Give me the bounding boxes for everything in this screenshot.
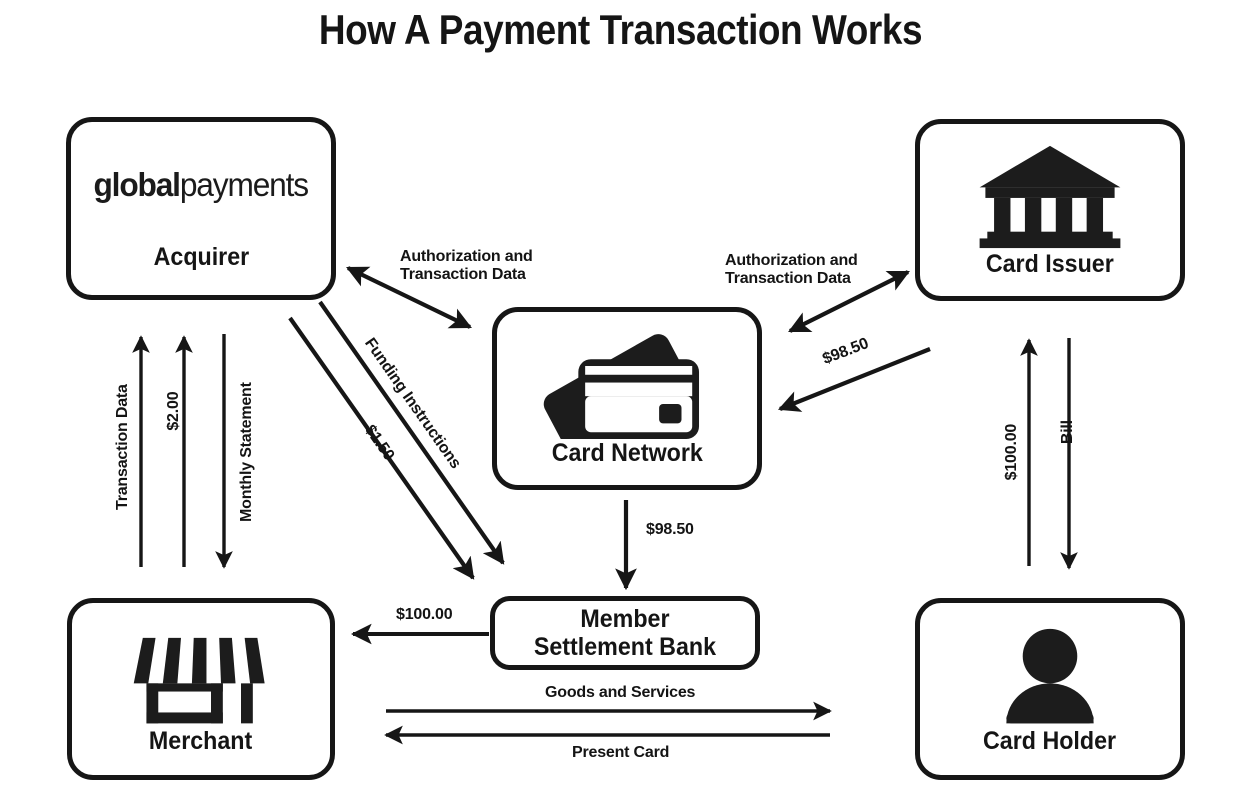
edge-label-100-merchant: $100.00 xyxy=(396,606,452,624)
edge-label-200: $2.00 xyxy=(165,356,183,466)
edge-label-acquirer-cardnetwork-auth: Authorization and Transaction Data xyxy=(400,248,533,284)
node-label-merchant: Merchant xyxy=(149,727,252,755)
node-label-card-issuer: Card Issuer xyxy=(986,250,1114,278)
edge-label-present-card: Present Card xyxy=(572,744,669,762)
person-icon xyxy=(994,627,1106,727)
logo-global: global xyxy=(94,166,180,203)
edge-label-goods-and-services: Goods and Services xyxy=(545,684,695,702)
edge-acquirer-funding-instructions xyxy=(320,302,503,563)
credit-cards-icon xyxy=(541,330,713,439)
node-card-network[interactable]: Card Network xyxy=(492,307,762,490)
node-card-holder[interactable]: Card Holder xyxy=(915,598,1185,780)
edge-label-bill: Bill xyxy=(1059,402,1077,462)
bank-building-icon xyxy=(975,142,1125,250)
node-acquirer[interactable]: globalpayments Acquirer xyxy=(66,117,336,300)
node-label-card-holder: Card Holder xyxy=(983,727,1116,755)
edge-label-monthly-statement: Monthly Statement xyxy=(238,377,256,527)
edge-label-cardnetwork-cardissuer-auth: Authorization and Transaction Data xyxy=(725,252,858,288)
storefront-icon xyxy=(121,627,281,727)
node-label-acquirer: Acquirer xyxy=(153,243,249,271)
node-label-member-settlement-bank: Member Settlement Bank xyxy=(534,605,716,661)
page-title: How A Payment Transaction Works xyxy=(74,6,1166,54)
edge-label-cardissuer-cardnetwork-9850: $98.50 xyxy=(820,335,871,369)
edge-label-100-cardholder: $100.00 xyxy=(1003,387,1021,517)
node-card-issuer[interactable]: Card Issuer xyxy=(915,119,1185,301)
edge-label-150: $1.50 xyxy=(360,422,397,464)
global-payments-wordmark-icon: globalpayments xyxy=(94,168,309,201)
logo-payments: payments xyxy=(180,166,308,203)
node-merchant[interactable]: Merchant xyxy=(67,598,335,780)
edge-label-transaction-data: Transaction Data xyxy=(114,377,132,517)
node-label-card-network: Card Network xyxy=(551,439,702,467)
node-member-settlement-bank[interactable]: Member Settlement Bank xyxy=(490,596,760,670)
diagram-canvas: How A Payment Transaction Works xyxy=(0,0,1241,809)
edge-label-9850-bank: $98.50 xyxy=(646,521,694,539)
